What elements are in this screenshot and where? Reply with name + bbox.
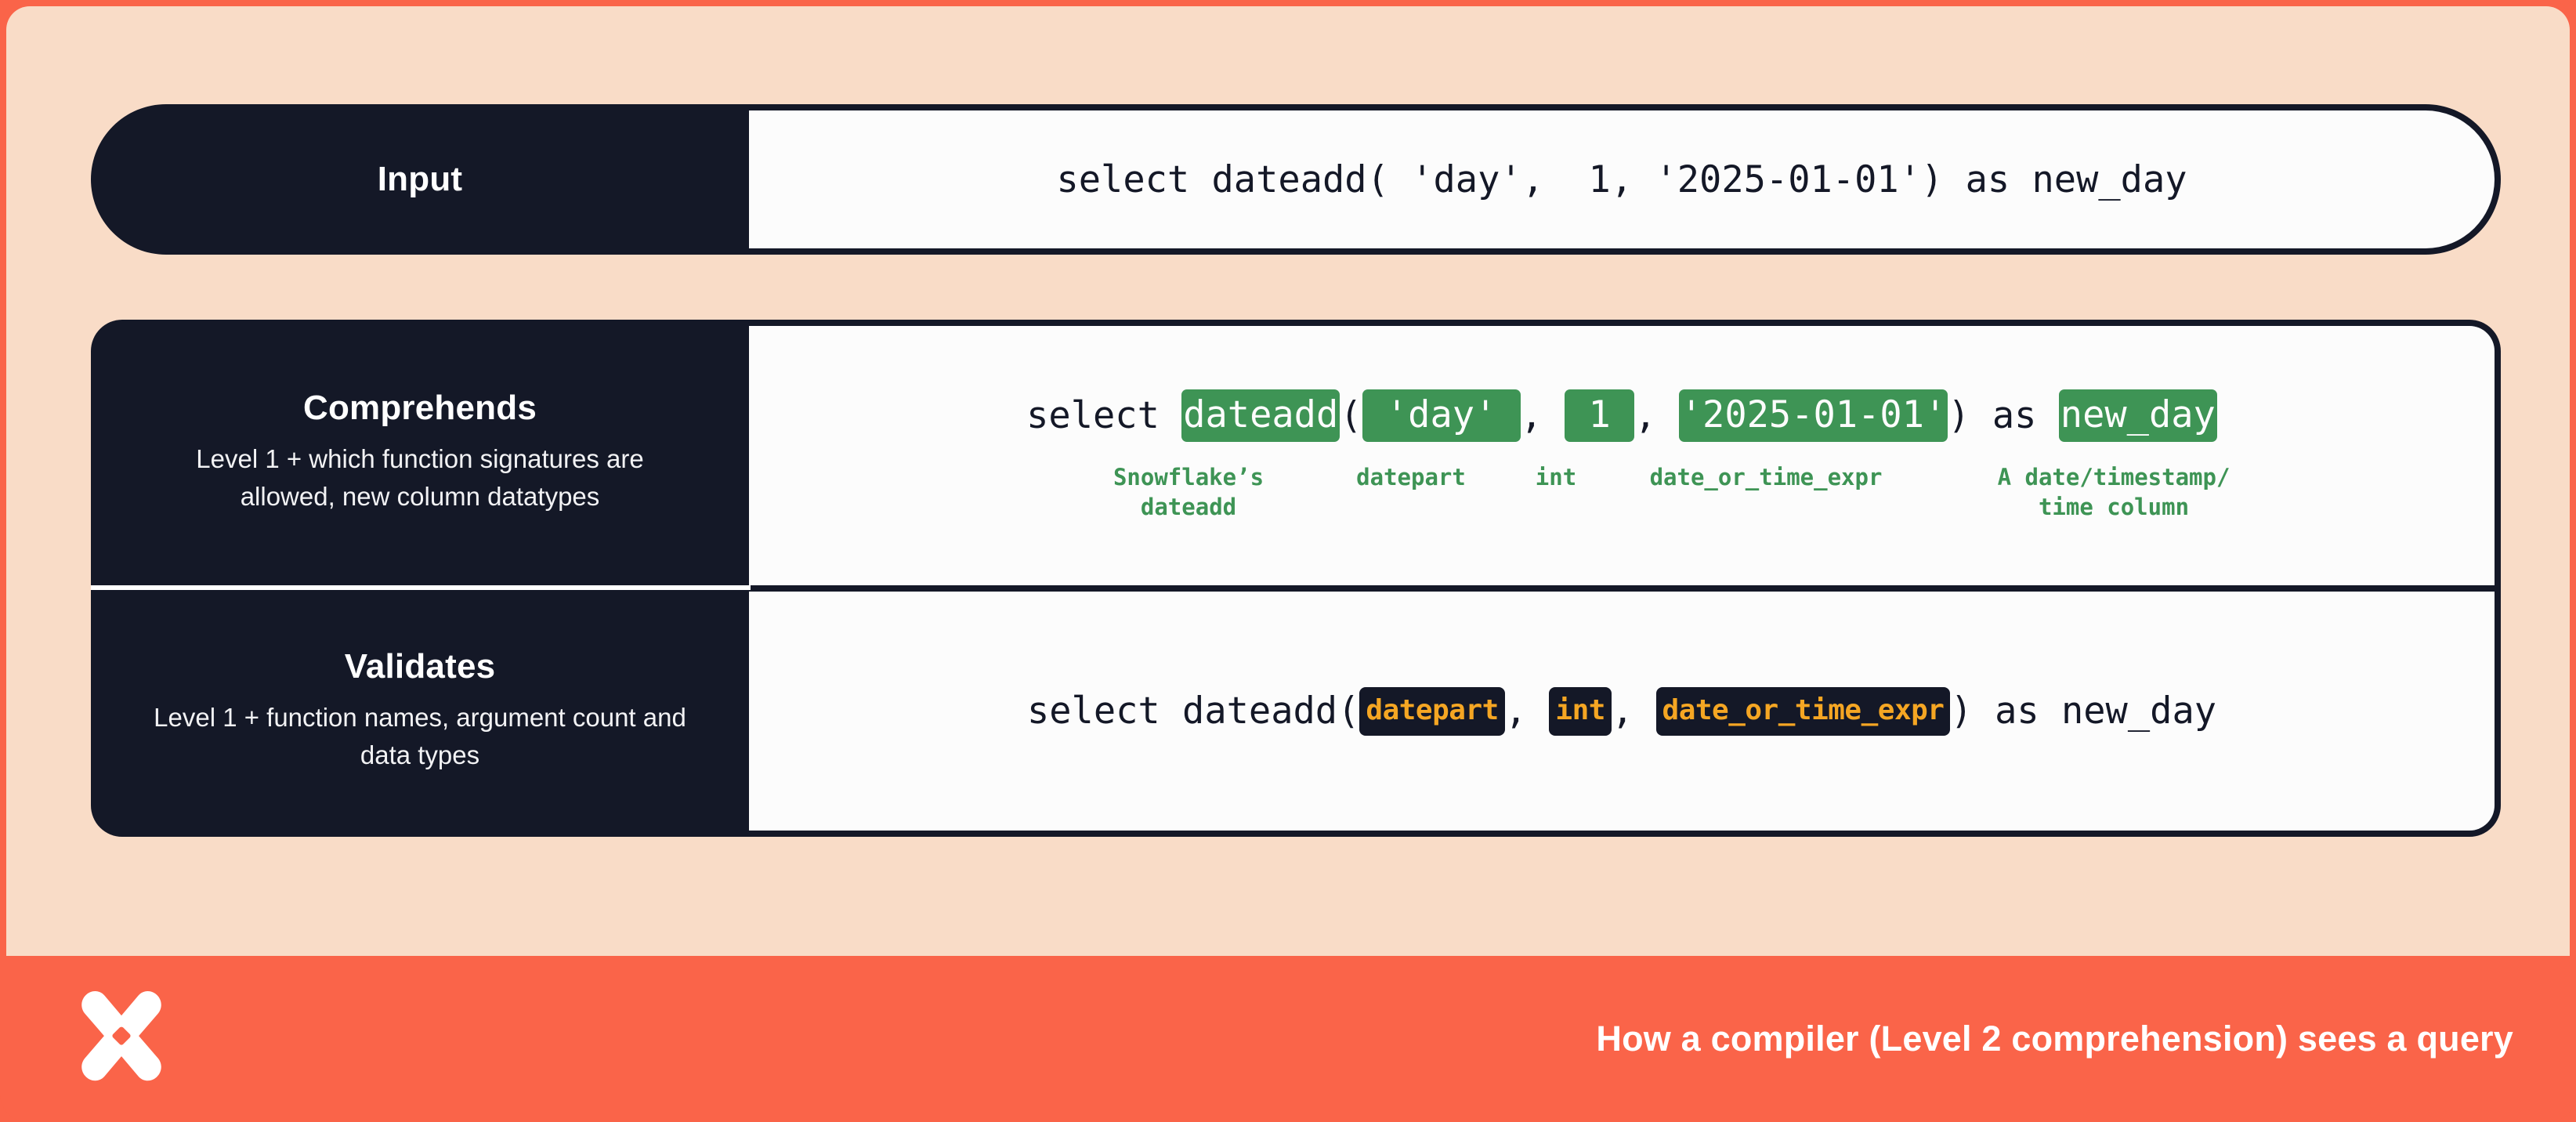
code-token: ,	[1612, 693, 1656, 729]
comprehends-label: Comprehends	[303, 389, 537, 427]
comprehends-code-text: select dateadd( 'day' , 1 , '2025-01-01'…	[1026, 389, 2217, 442]
code-token-highlight: 'day'	[1362, 389, 1521, 442]
input-label: Input	[378, 161, 463, 198]
code-token-highlight: datepart	[1359, 687, 1504, 736]
input-card: Input select dateadd( 'day', 1, '2025-01…	[91, 104, 2501, 255]
code-token: ) as new_day	[1950, 693, 2216, 729]
code-token-highlight: new_day	[2059, 389, 2217, 442]
validates-row: Validates Level 1 + function names, argu…	[91, 585, 2501, 837]
validates-description: Level 1 + function names, argument count…	[146, 699, 694, 774]
code-token: select	[1026, 397, 1181, 434]
comprehends-annotation: date_or_time_expr	[1613, 462, 1919, 492]
code-token: ,	[1521, 397, 1565, 434]
code-token: select dateadd(	[1027, 693, 1359, 729]
infographic-page: Input select dateadd( 'day', 1, '2025-01…	[0, 0, 2576, 1122]
comprehends-annotation: A date/timestamp/ time column	[1930, 462, 2298, 523]
validates-code-text: select dateadd(datepart, int, date_or_ti…	[1027, 687, 2216, 736]
validates-label-column: Validates Level 1 + function names, argu…	[91, 585, 749, 837]
code-token-highlight: date_or_time_expr	[1656, 687, 1951, 736]
comprehends-annotation: int	[1505, 462, 1607, 492]
comprehends-description: Level 1 + which function signatures are …	[146, 440, 694, 516]
input-label-column: Input	[91, 104, 749, 255]
code-token-highlight: 1	[1565, 389, 1634, 442]
comprehends-annotation-row: Snowflake’s dateadddatepartintdate_or_ti…	[749, 462, 2495, 523]
comprehends-annotation: Snowflake’s dateadd	[1063, 462, 1314, 523]
code-token: ,	[1505, 693, 1550, 729]
code-token-highlight: int	[1549, 687, 1612, 736]
input-code-text: select dateadd( 'day', 1, '2025-01-01') …	[1056, 161, 2187, 198]
footer-bar: How a compiler (Level 2 comprehension) s…	[0, 956, 2576, 1122]
comprehends-code-panel: select dateadd( 'day' , 1 , '2025-01-01'…	[749, 320, 2501, 585]
x-mark-logo-icon	[71, 988, 172, 1090]
code-token-highlight: '2025-01-01'	[1679, 389, 1948, 442]
code-token: (	[1340, 397, 1362, 434]
footer-caption: How a compiler (Level 2 comprehension) s…	[1596, 1019, 2513, 1059]
code-token-highlight: dateadd	[1181, 389, 1340, 442]
comprehends-annotation: datepart	[1325, 462, 1497, 492]
input-code-panel: select dateadd( 'day', 1, '2025-01-01') …	[749, 104, 2501, 255]
card-body-area: Input select dateadd( 'day', 1, '2025-01…	[6, 6, 2570, 956]
label-column-divider	[91, 585, 751, 590]
validates-code-panel: select dateadd(datepart, int, date_or_ti…	[749, 585, 2501, 837]
code-token: ,	[1634, 397, 1679, 434]
validates-label: Validates	[345, 648, 496, 686]
code-token: ) as	[1948, 397, 2058, 434]
levels-card: Comprehends Level 1 + which function sig…	[91, 320, 2501, 837]
comprehends-row: Comprehends Level 1 + which function sig…	[91, 320, 2501, 585]
comprehends-label-column: Comprehends Level 1 + which function sig…	[91, 320, 749, 585]
